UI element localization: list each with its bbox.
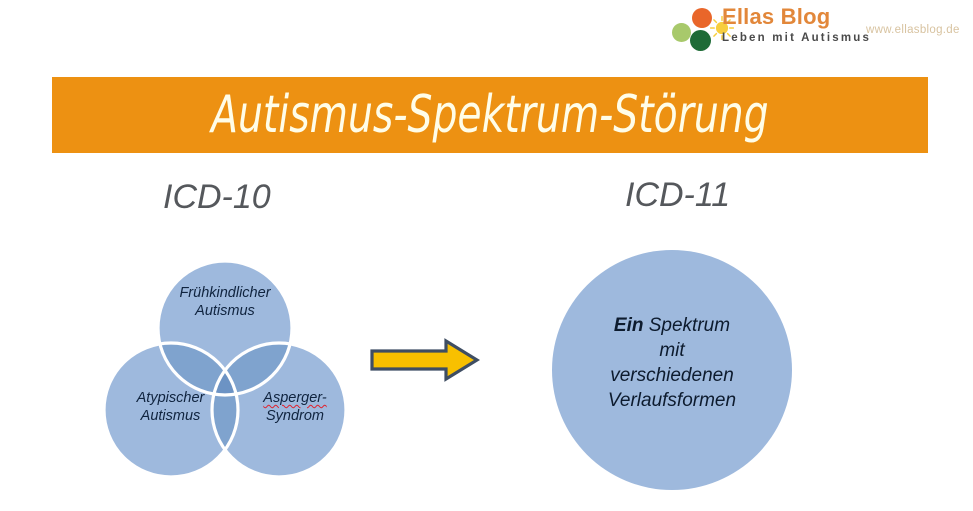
spectrum-line-2: mit xyxy=(659,340,684,361)
venn-label-line-1: Frühkindlicher xyxy=(179,285,270,301)
venn-label-line-2: Autismus xyxy=(141,408,201,424)
venn-label-line-2: Syndrom xyxy=(266,408,324,424)
spectrum-emphasis-word: Ein xyxy=(614,315,644,336)
brand-url: www.ellasblog.de xyxy=(866,24,960,36)
brand-tagline: Leben mit Autismus xyxy=(722,31,871,45)
title-banner: Autismus-Spektrum-Störung xyxy=(52,77,928,153)
section-label-icd11: ICD-11 xyxy=(625,176,730,215)
circle-orange-icon xyxy=(692,8,712,28)
venn-label-line-1: Atypischer xyxy=(137,390,205,406)
spectrum-text: Ein Spektrum mit verschiedenen Verlaufsf… xyxy=(608,313,736,427)
venn-label-asperger-syndrom: Asperger- Syndrom xyxy=(235,389,355,425)
spectrum-line-1: Spektrum xyxy=(649,315,730,336)
brand-logo: Ellas Blog Leben mit Autismus www.ellasb… xyxy=(668,4,973,56)
transition-arrow-right-icon xyxy=(370,338,480,382)
spectrum-line-3: verschiedenen xyxy=(610,365,734,386)
spectrum-circle-icd11: Ein Spektrum mit verschiedenen Verlaufsf… xyxy=(552,250,792,490)
page-title: Autismus-Spektrum-Störung xyxy=(211,85,769,145)
spectrum-line-4: Verlaufsformen xyxy=(608,390,736,411)
circle-green-dark-icon xyxy=(690,30,711,51)
venn-label-line-2: Autismus xyxy=(195,303,255,319)
venn-diagram-icd10: Frühkindlicher Autismus Atypischer Autis… xyxy=(100,255,350,483)
venn-label-line-1-spellcheck-flagged: Asperger- xyxy=(263,390,326,406)
circle-green-light-icon xyxy=(672,23,691,42)
venn-label-atypischer-autismus: Atypischer Autismus xyxy=(108,389,233,425)
section-label-icd10: ICD-10 xyxy=(163,178,271,217)
venn-label-fruehkindlicher-autismus: Frühkindlicher Autismus xyxy=(160,284,290,320)
brand-title: Ellas Blog xyxy=(722,4,830,30)
